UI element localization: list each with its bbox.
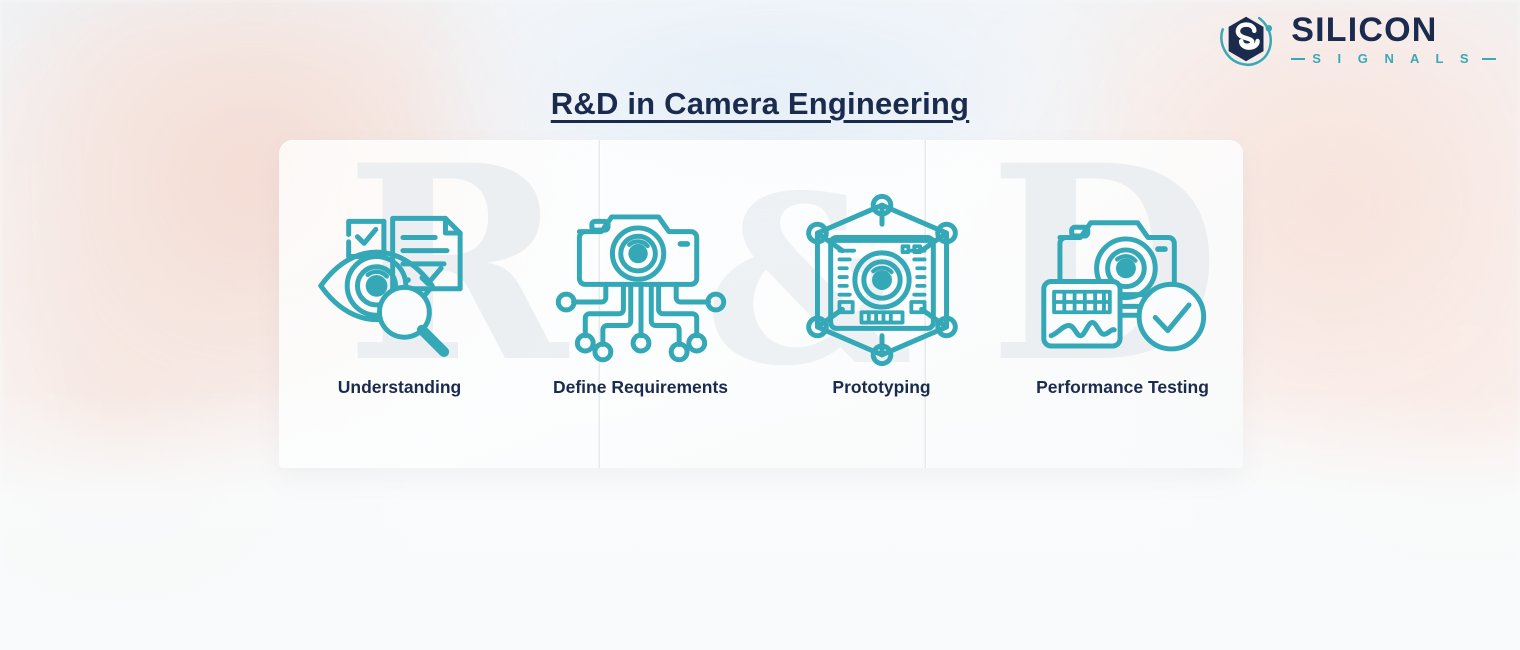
tagline-rule-right xyxy=(1482,58,1496,60)
page-title: R&D in Camera Engineering xyxy=(0,86,1520,122)
step-define-requirements[interactable]: Define Requirements xyxy=(520,140,761,468)
step-label: Understanding xyxy=(338,374,461,400)
camera-chart-check-icon xyxy=(1035,192,1211,368)
silicon-signals-hex-s-logo-icon xyxy=(1217,8,1279,70)
brand-tagline: S I G N A L S xyxy=(1312,52,1475,65)
brand-name: SILICON xyxy=(1291,13,1496,47)
step-label: Prototyping xyxy=(832,374,930,400)
brand-wordmark: SILICON S I G N A L S xyxy=(1291,13,1496,65)
brand-logo[interactable]: SILICON S I G N A L S xyxy=(1217,8,1496,70)
camera-sensor-wireframe-icon xyxy=(794,192,970,368)
step-performance-testing[interactable]: Performance Testing xyxy=(1002,140,1243,468)
steps-row: Understanding xyxy=(279,140,1243,468)
step-understanding[interactable]: Understanding xyxy=(279,140,520,468)
step-prototyping[interactable]: Prototyping xyxy=(761,140,1002,468)
eye-document-magnifier-icon xyxy=(312,192,488,368)
tagline-rule-left xyxy=(1291,58,1305,60)
steps-card: R & D xyxy=(279,140,1243,468)
brand-tagline-row: S I G N A L S xyxy=(1291,52,1496,65)
camera-circuit-icon xyxy=(553,192,729,368)
step-label: Performance Testing xyxy=(1036,374,1209,400)
step-label: Define Requirements xyxy=(553,374,728,400)
slide-canvas: SILICON S I G N A L S R&D in Camera Engi… xyxy=(0,0,1520,650)
